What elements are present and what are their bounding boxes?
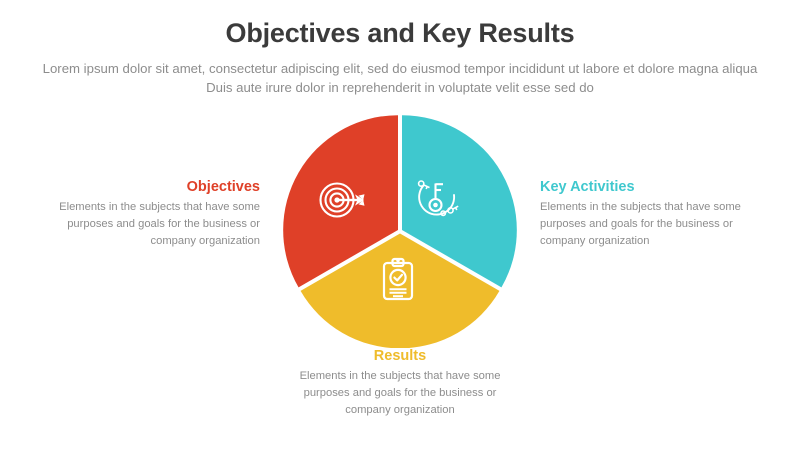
block-objectives-description: Elements in the subjects that have some … — [38, 199, 260, 249]
block-objectives-title: Objectives — [38, 179, 260, 196]
block-results[interactable]: Results Elements in the subjects that ha… — [280, 348, 520, 418]
block-key-activities-description: Elements in the subjects that have some … — [540, 199, 764, 249]
block-key-activities[interactable]: Key Activities Elements in the subjects … — [540, 179, 764, 249]
block-key-activities-title: Key Activities — [540, 179, 764, 196]
block-results-title: Results — [280, 348, 520, 365]
infographic-slide: Objectives and Key Results Lorem ipsum d… — [0, 0, 800, 450]
block-objectives[interactable]: Objectives Elements in the subjects that… — [38, 179, 260, 249]
pie-chart — [282, 112, 518, 348]
page-title: Objectives and Key Results — [0, 18, 800, 49]
block-results-description: Elements in the subjects that have some … — [280, 368, 520, 418]
header: Objectives and Key Results Lorem ipsum d… — [0, 18, 800, 97]
page-subtitle: Lorem ipsum dolor sit amet, consectetur … — [30, 59, 770, 97]
pie-chart-svg — [282, 112, 518, 348]
